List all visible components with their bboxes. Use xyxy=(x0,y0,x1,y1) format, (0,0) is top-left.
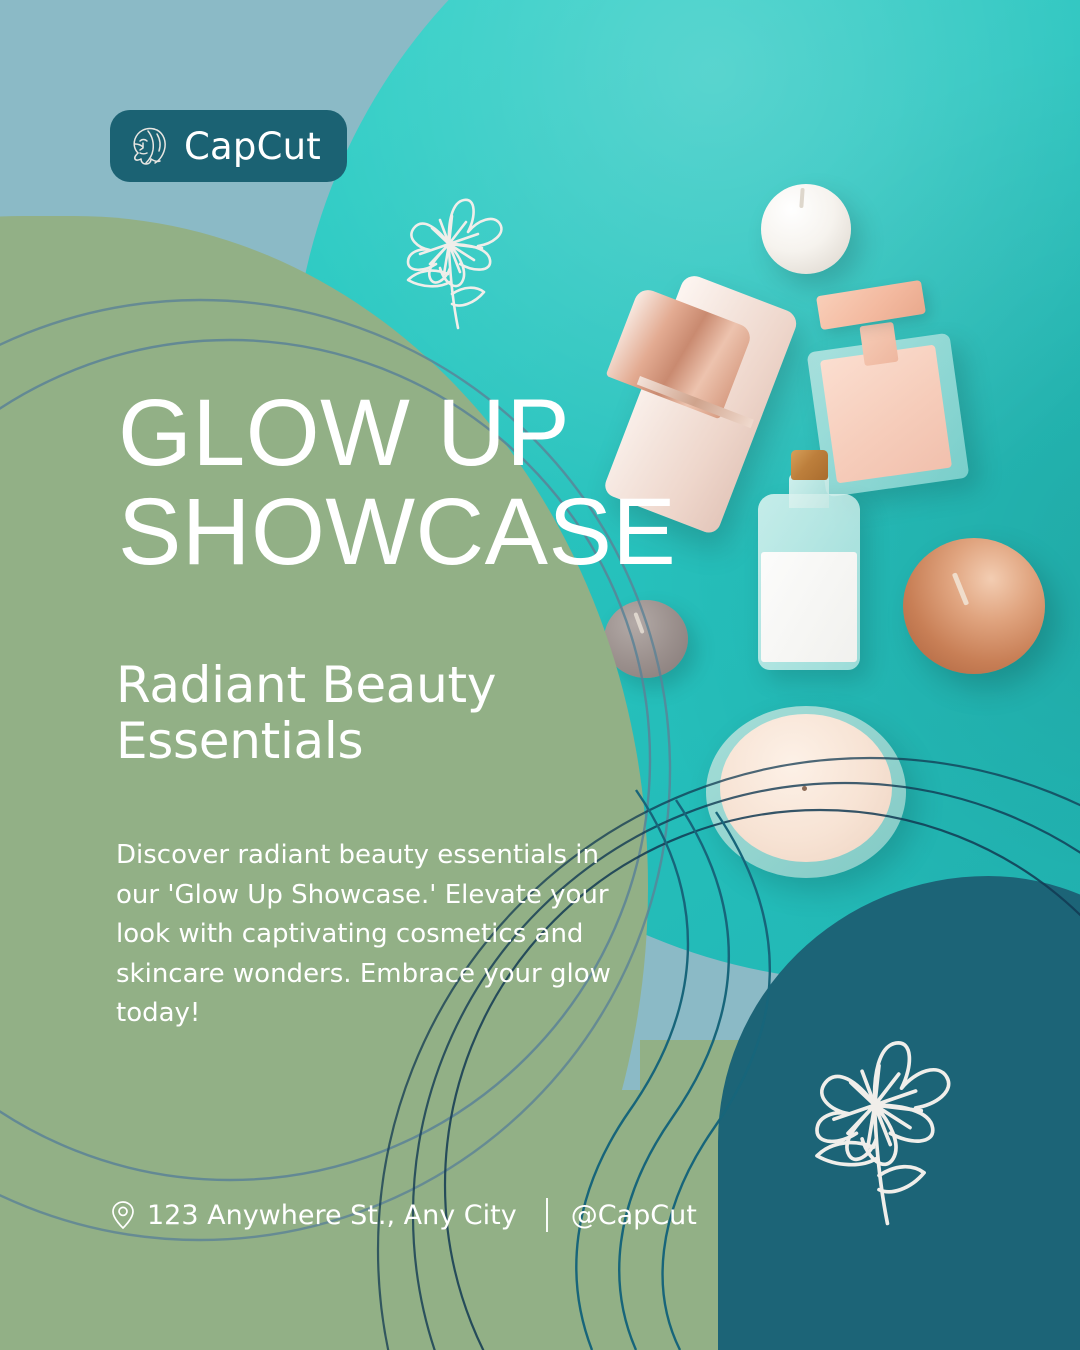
body-paragraph: Discover radiant beauty essentials in ou… xyxy=(116,836,616,1034)
footer-contact: 123 Anywhere St., Any City @CapCut xyxy=(110,1198,697,1232)
location-pin-icon xyxy=(110,1200,136,1230)
flower-line-art-icon-top xyxy=(386,182,518,330)
capcut-logo[interactable]: CapCut xyxy=(110,110,347,182)
footer-handle: @CapCut xyxy=(571,1200,697,1231)
poster-canvas: CapCut GLOW UP SHOWCASE Radiant Beauty E… xyxy=(0,0,1080,1350)
footer-divider xyxy=(546,1198,548,1232)
face-profile-line-art-icon xyxy=(124,122,172,170)
flower-line-art-icon-bottom xyxy=(786,1014,972,1230)
logo-text: CapCut xyxy=(184,125,321,168)
subtitle: Radiant Beauty Essentials xyxy=(116,657,586,769)
footer-address: 123 Anywhere St., Any City xyxy=(147,1200,517,1231)
page-title: GLOW UP SHOWCASE xyxy=(118,384,738,582)
